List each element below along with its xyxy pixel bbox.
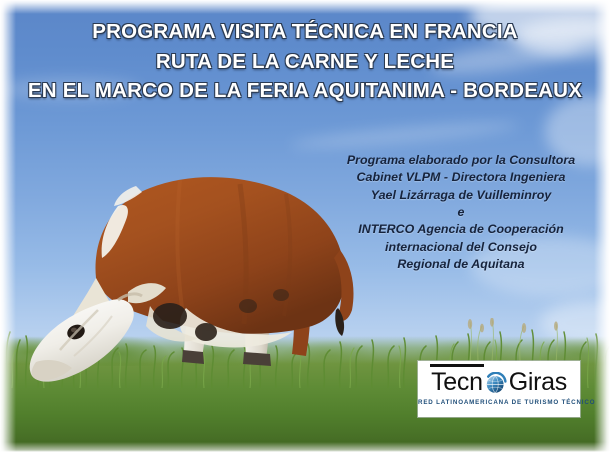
- cow-illustration: [0, 110, 360, 390]
- credits-line-5: INTERCO Agencia de Cooperación: [330, 221, 592, 238]
- credits-line-6: internacional del Consejo: [330, 239, 592, 256]
- logo-word-tecno: Tecn: [431, 368, 483, 396]
- credits-line-4: e: [330, 204, 592, 221]
- logo-word-giras: Giras: [509, 368, 567, 396]
- tecno-giras-logo[interactable]: Tecn: [418, 361, 580, 417]
- credits-line-7: Regional de Aquitana: [330, 256, 592, 273]
- title-line-1: PROGRAMA VISITA TÉCNICA EN FRANCIA: [0, 22, 610, 43]
- credits-line-2: Cabinet VLPM - Directora Ingeniera: [330, 169, 592, 186]
- credits-block: Programa elaborado por la Consultora Cab…: [330, 152, 592, 274]
- credits-line-3: Yael Lizárraga de Vuilleminroy: [330, 187, 592, 204]
- slide-canvas: PROGRAMA VISITA TÉCNICA EN FRANCIA RUTA …: [0, 0, 610, 452]
- logo-wordmark: Tecn: [418, 370, 580, 395]
- title-block: PROGRAMA VISITA TÉCNICA EN FRANCIA RUTA …: [0, 22, 610, 111]
- logo-tagline: RED LATINOAMERICANA DE TURISMO TÉCNICO: [418, 399, 580, 406]
- credits-line-1: Programa elaborado por la Consultora: [330, 152, 592, 169]
- title-line-3: EN EL MARCO DE LA FERIA AQUITANIMA - BOR…: [0, 81, 610, 102]
- globe-icon: [484, 372, 507, 395]
- title-line-2: RUTA DE LA CARNE Y LECHE: [0, 52, 610, 73]
